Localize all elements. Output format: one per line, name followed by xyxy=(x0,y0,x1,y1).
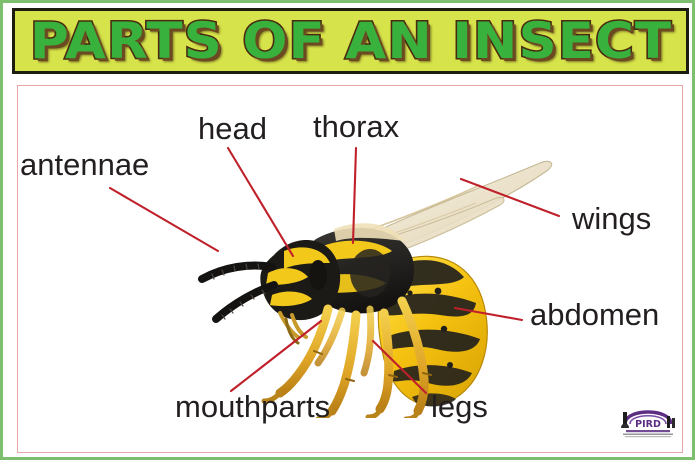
label-legs: legs xyxy=(431,391,488,422)
label-head: head xyxy=(198,113,267,144)
title-banner: PARTS OF AN INSECT xyxy=(12,8,689,74)
logo-acronym: PIRD xyxy=(635,419,661,430)
label-mouthparts: mouthparts xyxy=(175,391,330,422)
poster-root: PARTS OF AN INSECT xyxy=(0,0,695,460)
organization-logo: PIRD xyxy=(615,394,681,440)
page-title: PARTS OF AN INSECT xyxy=(25,16,676,66)
label-abdomen: abdomen xyxy=(530,299,659,330)
insect-illustration xyxy=(188,143,588,418)
head-art xyxy=(260,240,340,343)
label-thorax: thorax xyxy=(313,111,399,142)
label-antennae: antennae xyxy=(20,149,149,180)
label-wings: wings xyxy=(572,203,651,234)
